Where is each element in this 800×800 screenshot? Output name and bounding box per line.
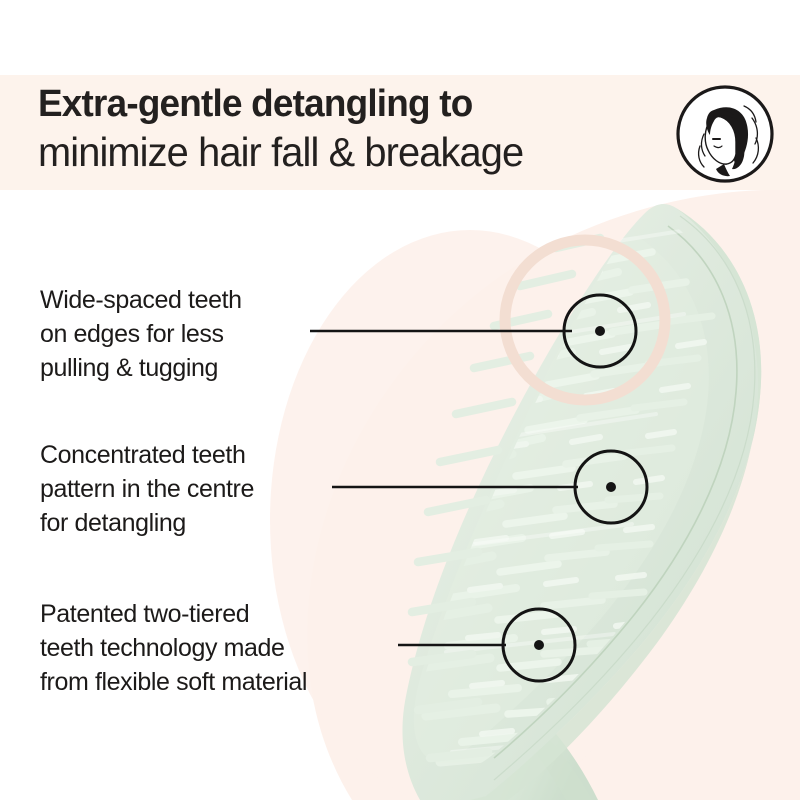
header-banner: Extra-gentle detangling to minimize hair… <box>0 75 800 190</box>
callout-text-1: Wide-spaced teeth on edges for less pull… <box>40 283 340 385</box>
callout-wide-spaced-teeth: Wide-spaced teeth on edges for less pull… <box>40 283 340 385</box>
callout-concentrated-teeth-pattern: Concentrated teeth pattern in the centre… <box>40 438 340 540</box>
callout-text-3: Patented two-tiered teeth technology mad… <box>40 597 410 699</box>
feature-hotspot-wide-spaced-teeth[interactable] <box>564 295 636 367</box>
callout-two-tiered-teeth-technology: Patented two-tiered teeth technology mad… <box>40 597 410 699</box>
woman-face-hair-icon <box>674 83 776 185</box>
header-title-line-2: minimize hair fall & breakage <box>38 127 639 177</box>
infographic-canvas: Extra-gentle detangling to minimize hair… <box>0 0 800 800</box>
header-title-line-1: Extra-gentle detangling to <box>38 81 639 127</box>
feature-hotspot-concentrated-teeth-pattern[interactable] <box>575 451 647 523</box>
callout-text-2: Concentrated teeth pattern in the centre… <box>40 438 340 540</box>
header-title-block: Extra-gentle detangling to minimize hair… <box>38 81 658 177</box>
feature-hotspot-two-tiered-teeth-technology[interactable] <box>503 609 575 681</box>
